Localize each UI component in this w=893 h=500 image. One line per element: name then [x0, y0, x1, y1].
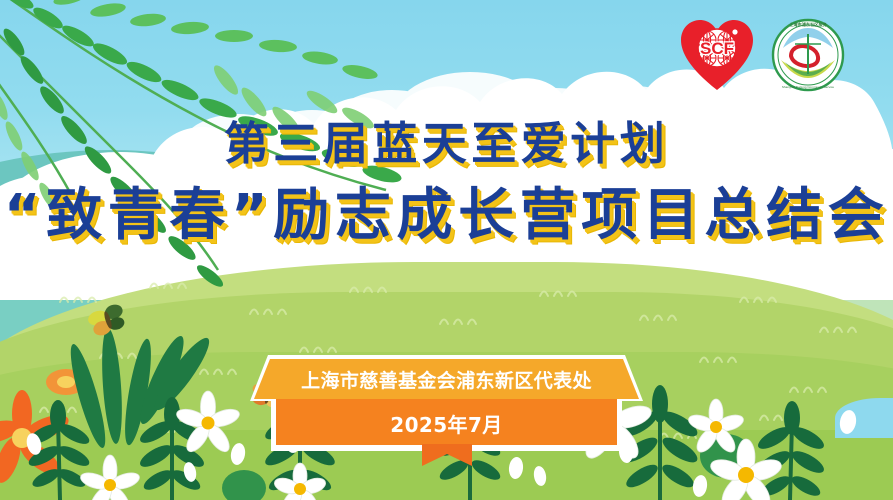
- logo-group: SCF 上海市浦东社区服务 Shanghai Pudong Com: [679, 18, 845, 97]
- scf-logo-text: SCF: [700, 39, 734, 58]
- organization-banner: 上海市慈善基金会浦东新区代表处 2025年7月: [254, 359, 639, 457]
- community-logo-text-en: Shanghai Pudong Community Service: [782, 85, 835, 89]
- title-line-1: 第三届蓝天至爱计划: [0, 118, 893, 170]
- community-service-center-logo: 上海市浦东社区服务 Shanghai Pudong Community Serv…: [771, 18, 845, 97]
- banner-organization-text: 上海市慈善基金会浦东新区代表处: [254, 366, 639, 393]
- community-logo-text-cn: 上海市浦东社区服务: [789, 21, 828, 28]
- title-line-2: “致青春”励志成长营项目总结会: [0, 184, 893, 248]
- poster-title: 第三届蓝天至爱计划 “致青春”励志成长营项目总结会: [0, 118, 893, 248]
- poster-canvas: 第三届蓝天至爱计划 “致青春”励志成长营项目总结会: [0, 0, 893, 500]
- scf-heart-logo: SCF: [679, 18, 755, 97]
- banner-date-text: 2025年7月: [254, 409, 639, 438]
